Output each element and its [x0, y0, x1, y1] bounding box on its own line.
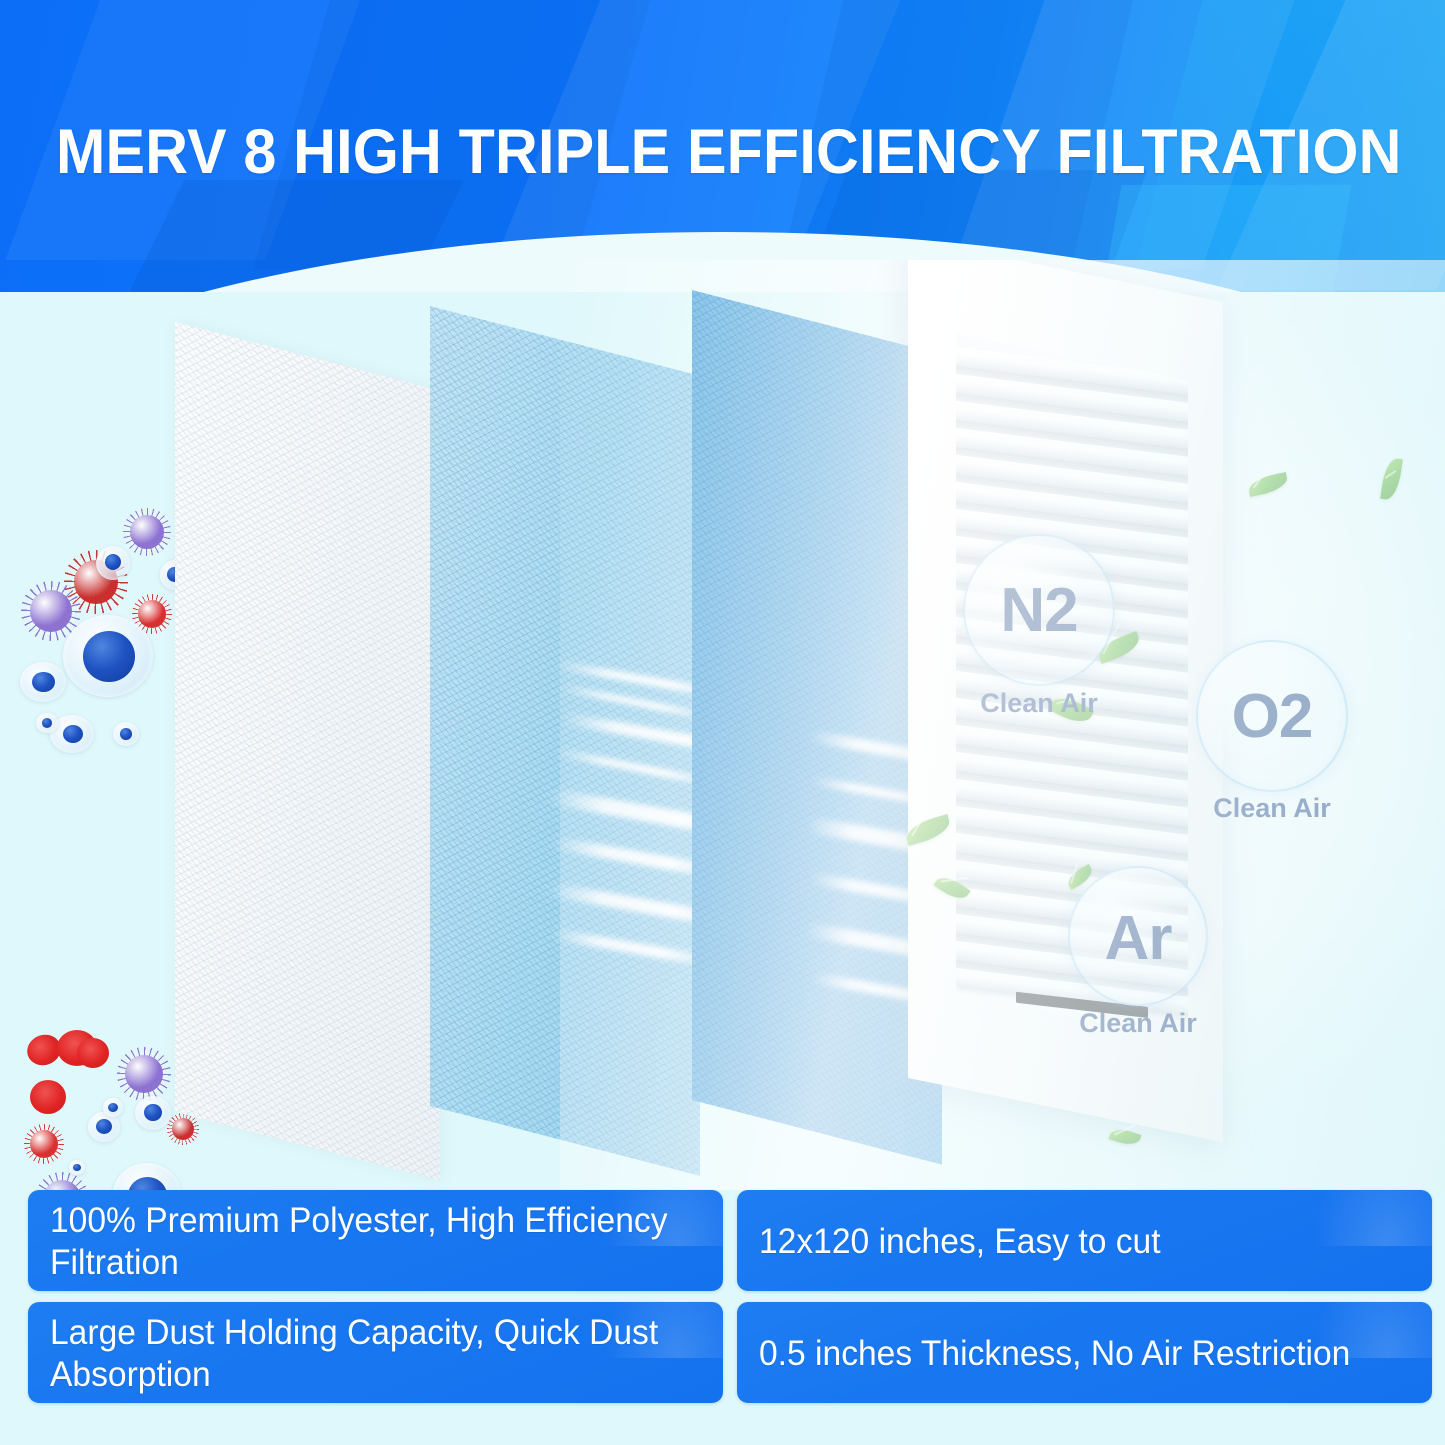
cell-particle-icon: [20, 662, 66, 702]
cell-particle-icon: [135, 1096, 171, 1130]
cell-particle-icon: [103, 1098, 123, 1117]
feature-text: 12x120 inches, Easy to cut: [759, 1221, 1161, 1263]
feature-text: 0.5 inches Thickness, No Air Restriction: [759, 1333, 1350, 1375]
feature-box-dust-capacity[interactable]: Large Dust Holding Capacity, Quick Dust …: [28, 1302, 723, 1403]
feature-box-material[interactable]: 100% Premium Polyester, High Efficiency …: [28, 1190, 723, 1291]
cell-particle-icon: [113, 1163, 181, 1190]
feature-text: Large Dust Holding Capacity, Quick Dust …: [50, 1312, 675, 1396]
virus-particle-icon: [30, 590, 72, 632]
product-illustration: N2 Clean Air O2 Clean Air Ar Clean Air: [0, 260, 1445, 1190]
feature-box-thickness[interactable]: 0.5 inches Thickness, No Air Restriction: [737, 1302, 1432, 1403]
cell-particle-icon: [63, 615, 153, 697]
red-blood-cell-icon: [30, 1080, 66, 1114]
page-title: MERV 8 HIGH TRIPLE EFFICIENCY FILTRATION: [56, 118, 1334, 186]
virus-particle-icon: [172, 1118, 194, 1140]
virus-particle-icon: [138, 600, 166, 628]
feature-text: 100% Premium Polyester, High Efficiency …: [50, 1200, 675, 1284]
feature-box-size[interactable]: 12x120 inches, Easy to cut: [737, 1190, 1432, 1291]
virus-particle-icon: [125, 1055, 163, 1093]
filter-layer-white: [175, 322, 440, 1181]
cell-particle-icon: [96, 546, 130, 580]
header-banner: MERV 8 HIGH TRIPLE EFFICIENCY FILTRATION: [0, 0, 1445, 292]
scene-haze-overlay: [560, 260, 1445, 1190]
cell-particle-icon: [113, 722, 139, 746]
red-blood-cell-icon: [77, 1038, 109, 1068]
feature-highlights-grid: 100% Premium Polyester, High Efficiency …: [28, 1190, 1417, 1403]
virus-particle-icon: [130, 515, 164, 549]
product-infographic: MERV 8 HIGH TRIPLE EFFICIENCY FILTRATION: [0, 0, 1445, 1445]
cell-particle-icon: [36, 713, 58, 733]
box-gloss: [1312, 1190, 1432, 1246]
virus-particle-icon: [43, 1180, 81, 1190]
virus-particle-icon: [30, 1130, 58, 1158]
cell-particle-icon: [69, 1160, 85, 1175]
